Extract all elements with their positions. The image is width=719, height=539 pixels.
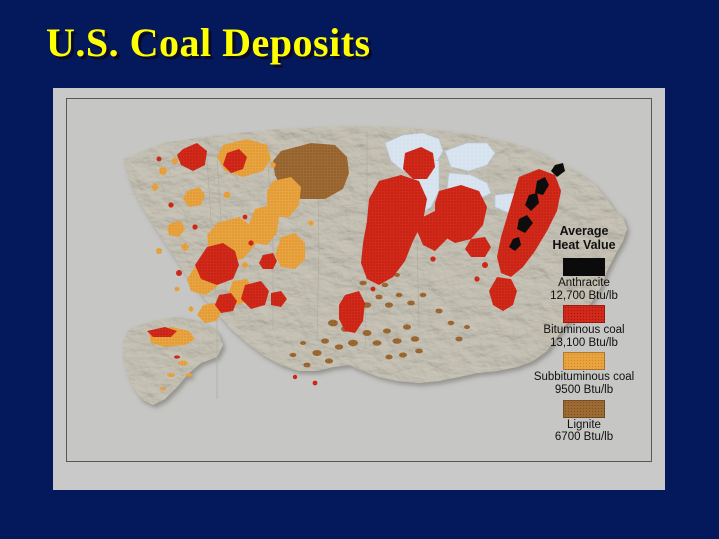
legend-title: Average Heat Value	[523, 224, 645, 252]
page-title: U.S. Coal Deposits	[46, 20, 371, 66]
legend-swatch-anthracite	[563, 258, 605, 276]
legend-item-lignite: Lignite 6700 Btu/lb	[523, 400, 645, 444]
slide: U.S. Coal Deposits	[0, 0, 719, 539]
legend-swatch-lignite	[563, 400, 605, 418]
legend-item-anthracite: Anthracite 12,700 Btu/lb	[523, 258, 645, 302]
legend-item-bituminous: Bituminous coal 13,100 Btu/lb	[523, 305, 645, 349]
legend-swatch-subbituminous	[563, 352, 605, 370]
legend-label-bituminous: Bituminous coal	[523, 324, 645, 337]
legend-item-subbituminous: Subbituminous coal 9500 Btu/lb	[523, 352, 645, 396]
legend-value-anthracite: 12,700 Btu/lb	[523, 290, 645, 303]
legend-label-subbituminous: Subbituminous coal	[523, 371, 645, 384]
legend-title-line1: Average	[523, 224, 645, 238]
map-panel: Average Heat Value Anthracite 12,700 Btu…	[53, 88, 665, 490]
legend-label-anthracite: Anthracite	[523, 277, 645, 290]
legend-label-lignite: Lignite	[523, 419, 645, 432]
legend-title-line2: Heat Value	[523, 238, 645, 252]
legend-value-subbituminous: 9500 Btu/lb	[523, 384, 645, 397]
legend-swatch-bituminous	[563, 305, 605, 323]
map-frame: Average Heat Value Anthracite 12,700 Btu…	[66, 98, 652, 462]
legend-value-bituminous: 13,100 Btu/lb	[523, 337, 645, 350]
legend-value-lignite: 6700 Btu/lb	[523, 431, 645, 444]
map-legend: Average Heat Value Anthracite 12,700 Btu…	[523, 224, 645, 444]
